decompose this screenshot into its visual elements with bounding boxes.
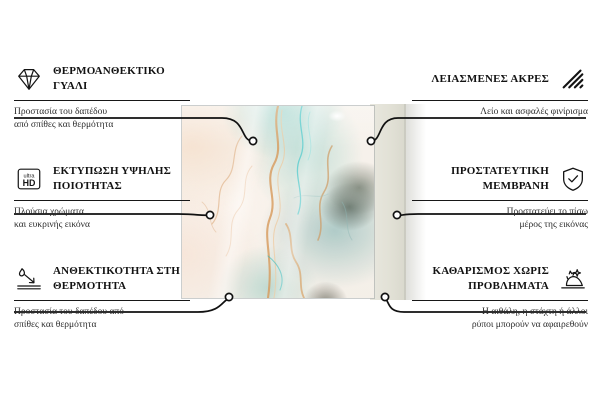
- feature-heat-resistant-glass[interactable]: ΘΕΡΜΟΑΝΘΕΚΤΙΚΟ ΓΥΑΛΙ Προστασία του δαπέδ…: [14, 62, 190, 133]
- feature-protective-film[interactable]: ΠΡΟΣΤΑΤΕΥΤΙΚΗ ΜΕΜΒΡΑΝΗ Προστατεύει το πί…: [412, 162, 588, 233]
- desc-line-2: και ευκρινής εικόνα: [14, 219, 190, 232]
- infographic-stage: ΘΕΡΜΟΑΝΘΕΚΤΙΚΟ ΓΥΑΛΙ Προστασία του δαπέδ…: [0, 0, 600, 400]
- glass-panel-front: [182, 106, 374, 298]
- feature-heat-durability[interactable]: ΑΝΘΕΚΤΙΚΟΤΗΤΑ ΣΤΗ ΘΕΡΜΟΤΗΤΑ Προστασία το…: [14, 262, 190, 333]
- desc-line-1: Λείο και ασφαλές φινίρισμα: [412, 106, 588, 119]
- feature-description: Η αιθάλη, η στάχτη ή άλλοι ρύποι μπορούν…: [412, 306, 588, 333]
- desc-line-1: Προστασία του δαπέδου: [14, 106, 190, 119]
- feature-title: ΘΕΡΜΟΑΝΘΕΚΤΙΚΟ ΓΥΑΛΙ: [53, 64, 190, 93]
- feature-divider: [14, 100, 190, 101]
- ultra-hd-icon: ultra HD: [14, 165, 44, 193]
- desc-line-2: σπίθες και θερμότητα: [14, 319, 190, 332]
- glass-glare-highlight: [324, 108, 350, 124]
- polished-edges-icon: [558, 65, 588, 93]
- svg-text:HD: HD: [23, 178, 36, 188]
- feature-divider: [412, 200, 588, 201]
- feature-header: ΠΡΟΣΤΑΤΕΥΤΙΚΗ ΜΕΜΒΡΑΝΗ: [412, 162, 588, 196]
- feature-divider: [14, 200, 190, 201]
- desc-line-1: Προστασία του δαπέδου από: [14, 306, 190, 319]
- feature-header: ΛΕΙΑΣΜΕΝΕΣ ΑΚΡΕΣ: [412, 62, 588, 96]
- desc-line-2: ρύποι μπορούν να αφαιρεθούν: [412, 319, 588, 332]
- feature-description: Πλούσια χρώματα και ευκρινής εικόνα: [14, 206, 190, 233]
- heat-resistance-icon: [14, 265, 44, 293]
- easy-cleaning-icon: [558, 265, 588, 293]
- desc-line-2: μέρος της εικόνας: [412, 219, 588, 232]
- desc-line-1: Προστατεύει το πίσω: [412, 206, 588, 219]
- feature-divider: [412, 100, 588, 101]
- feature-header: ΚΑΘΑΡΙΣΜΟΣ ΧΩΡΙΣ ΠΡΟΒΛΗΜΑΤΑ: [412, 262, 588, 296]
- feature-divider: [14, 300, 190, 301]
- feature-title: ΛΕΙΑΣΜΕΝΕΣ ΑΚΡΕΣ: [412, 72, 549, 87]
- desc-line-1: Πλούσια χρώματα: [14, 206, 190, 219]
- feature-header: ΑΝΘΕΚΤΙΚΟΤΗΤΑ ΣΤΗ ΘΕΡΜΟΤΗΤΑ: [14, 262, 190, 296]
- feature-polished-edges[interactable]: ΛΕΙΑΣΜΕΝΕΣ ΑΚΡΕΣ Λείο και ασφαλές φινίρι…: [412, 62, 588, 119]
- desc-line-1: Η αιθάλη, η στάχτη ή άλλοι: [412, 306, 588, 319]
- feature-title: ΑΝΘΕΚΤΙΚΟΤΗΤΑ ΣΤΗ ΘΕΡΜΟΤΗΤΑ: [53, 264, 190, 293]
- feature-divider: [412, 300, 588, 301]
- feature-header: ultra HD ΕΚΤΥΠΩΣΗ ΥΨΗΛΗΣ ΠΟΙΟΤΗΤΑΣ: [14, 162, 190, 196]
- feature-description: Προστατεύει το πίσω μέρος της εικόνας: [412, 206, 588, 233]
- feature-description: Προστασία του δαπέδου από σπίθες και θερ…: [14, 106, 190, 133]
- feature-title: ΕΚΤΥΠΩΣΗ ΥΨΗΛΗΣ ΠΟΙΟΤΗΤΑΣ: [53, 164, 190, 193]
- feature-easy-cleaning[interactable]: ΚΑΘΑΡΙΣΜΟΣ ΧΩΡΙΣ ΠΡΟΒΛΗΜΑΤΑ Η αιθάλη, η …: [412, 262, 588, 333]
- marble-vein-lines: [182, 106, 374, 298]
- feature-title: ΚΑΘΑΡΙΣΜΟΣ ΧΩΡΙΣ ΠΡΟΒΛΗΜΑΤΑ: [412, 264, 549, 293]
- feature-title: ΠΡΟΣΤΑΤΕΥΤΙΚΗ ΜΕΜΒΡΑΝΗ: [412, 164, 549, 193]
- panel-side-edge: [370, 104, 406, 300]
- feature-description: Λείο και ασφαλές φινίρισμα: [412, 106, 588, 119]
- diamond-icon: [14, 65, 44, 93]
- feature-description: Προστασία του δαπέδου από σπίθες και θερ…: [14, 306, 190, 333]
- feature-high-quality-print[interactable]: ultra HD ΕΚΤΥΠΩΣΗ ΥΨΗΛΗΣ ΠΟΙΟΤΗΤΑΣ Πλούσ…: [14, 162, 190, 233]
- feature-header: ΘΕΡΜΟΑΝΘΕΚΤΙΚΟ ΓΥΑΛΙ: [14, 62, 190, 96]
- desc-line-2: από σπίθες και θερμότητα: [14, 119, 190, 132]
- shield-check-icon: [558, 165, 588, 193]
